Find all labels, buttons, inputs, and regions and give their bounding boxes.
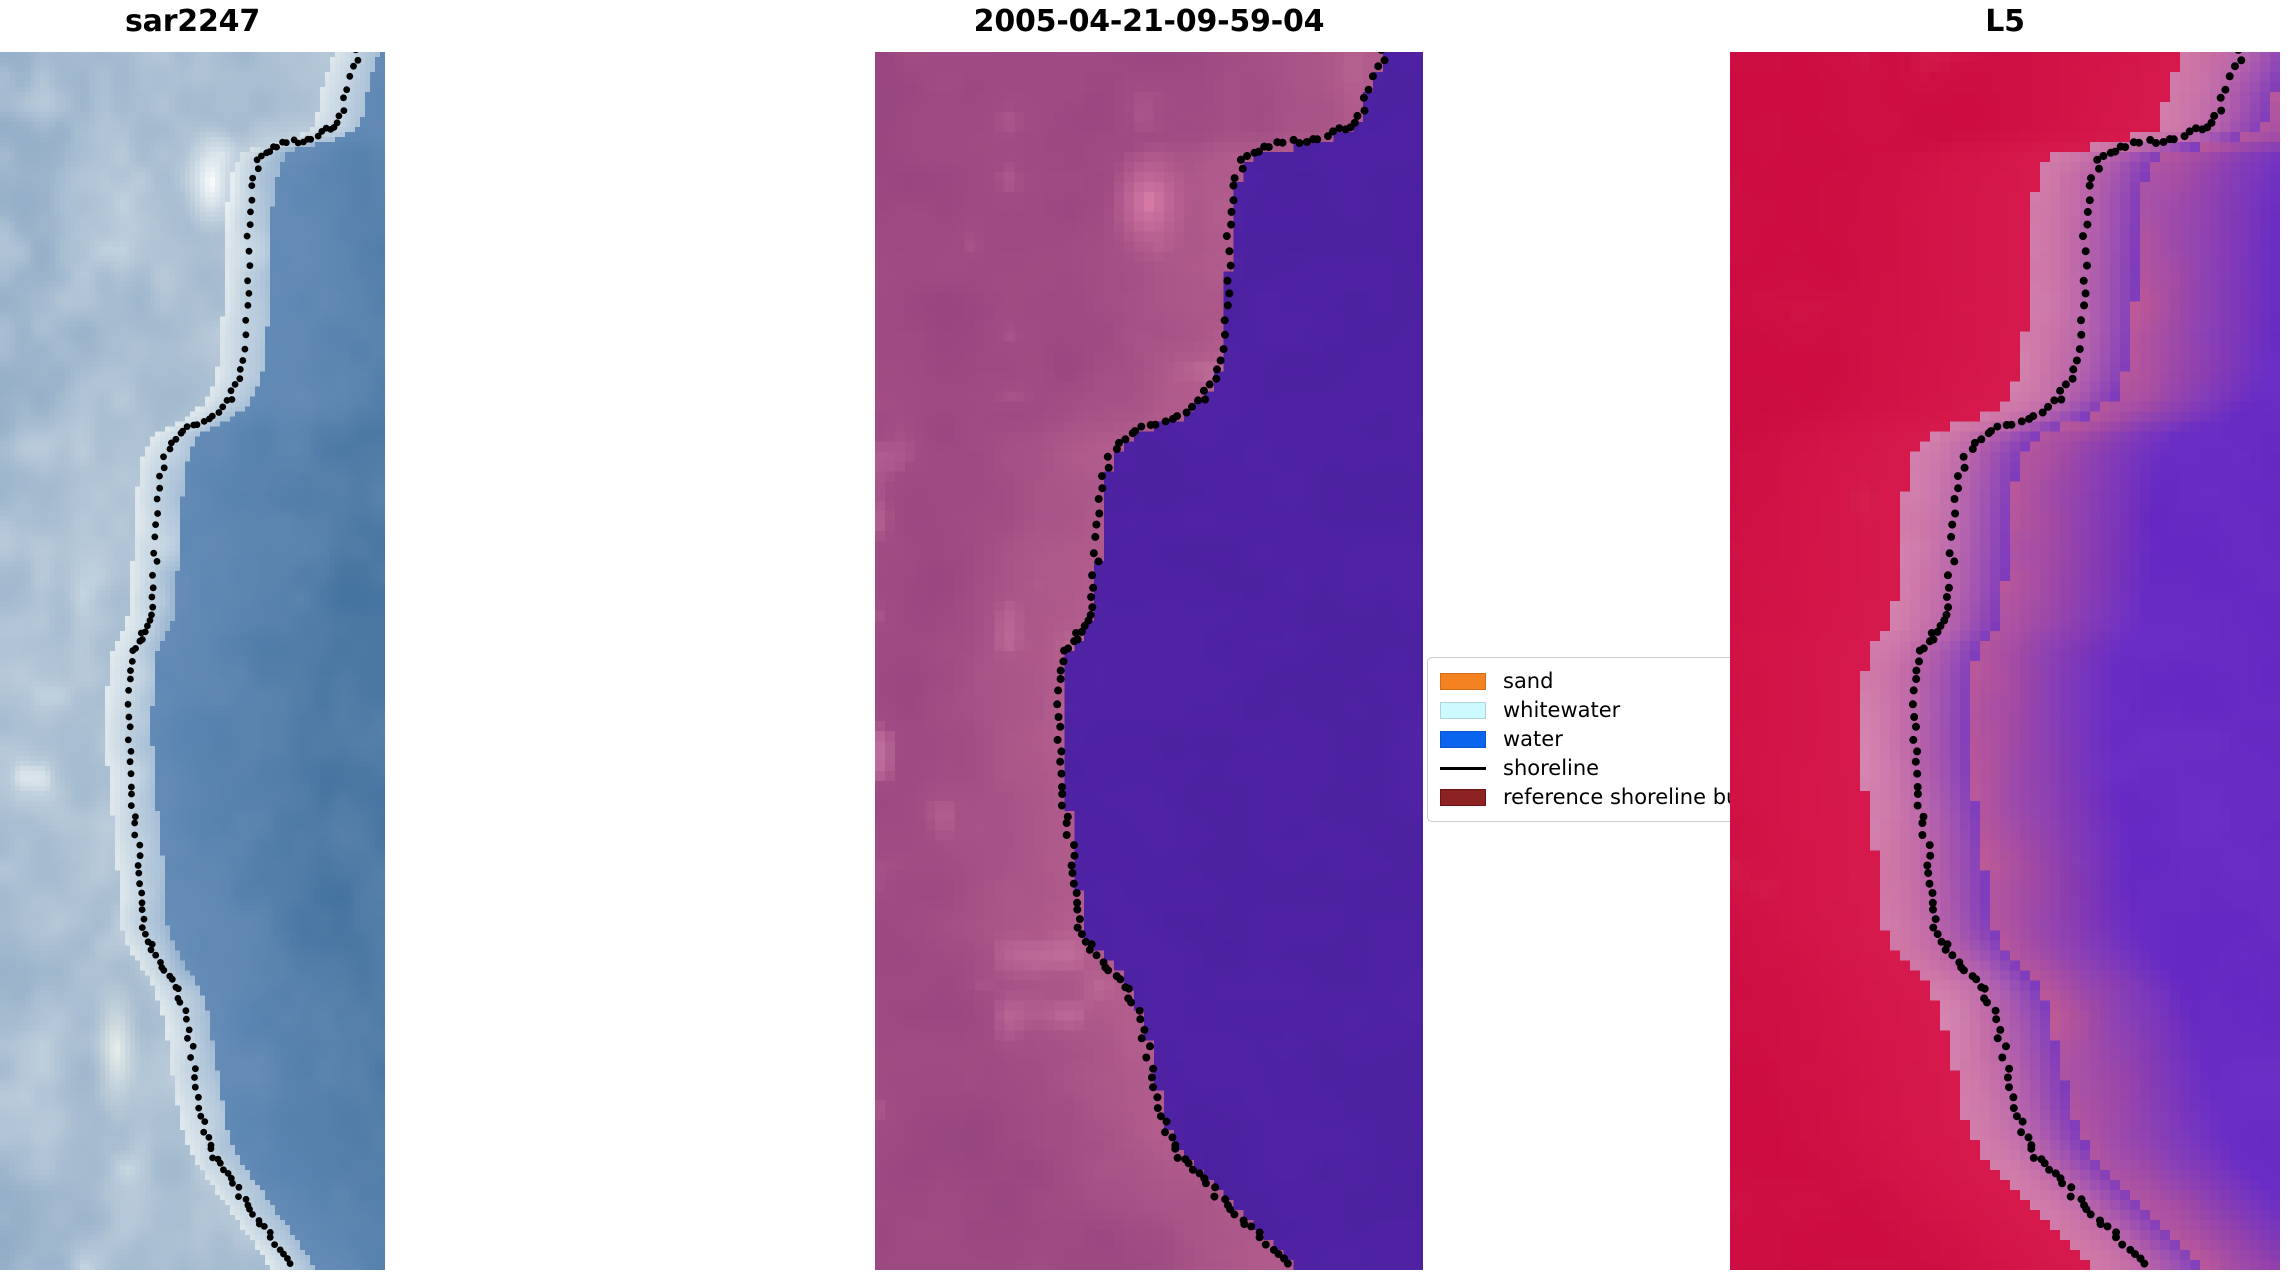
legend-label-water: water bbox=[1503, 729, 1563, 750]
panel-classification-image[interactable] bbox=[875, 52, 1423, 1270]
panel-title-l5: L5 bbox=[1730, 4, 2280, 39]
legend-item-sand: sand bbox=[1440, 667, 1748, 696]
whitewater-swatch-icon bbox=[1440, 702, 1486, 719]
legend-label-shoreline: shoreline bbox=[1503, 758, 1599, 779]
panel-title-classification: 2005-04-21-09-59-04 bbox=[875, 4, 1423, 39]
legend-item-water: water bbox=[1440, 725, 1748, 754]
reference-shoreline-buffer-swatch-icon bbox=[1440, 789, 1486, 806]
legend-label-whitewater: whitewater bbox=[1503, 700, 1620, 721]
panel-sar-image[interactable] bbox=[0, 52, 385, 1270]
water-swatch-icon bbox=[1440, 731, 1486, 748]
figure-canvas: sar2247 2005-04-21-09-59-04 L5 sand whit… bbox=[0, 0, 2294, 1283]
shoreline-overlay-classification bbox=[875, 52, 1423, 1270]
legend-box: sand whitewater water shoreline referenc… bbox=[1427, 657, 1759, 822]
legend-label-sand: sand bbox=[1503, 671, 1553, 692]
panel-l5-image[interactable] bbox=[1730, 52, 2280, 1270]
shoreline-line-icon bbox=[1440, 767, 1486, 770]
sand-swatch-icon bbox=[1440, 673, 1486, 690]
shoreline-overlay-l5 bbox=[1730, 52, 2280, 1270]
legend-item-whitewater: whitewater bbox=[1440, 696, 1748, 725]
legend-item-reference-shoreline-buffer: reference shoreline buffer bbox=[1440, 783, 1748, 812]
shoreline-overlay-sar bbox=[0, 52, 385, 1270]
legend-item-shoreline: shoreline bbox=[1440, 754, 1748, 783]
panel-title-sar: sar2247 bbox=[0, 4, 385, 39]
